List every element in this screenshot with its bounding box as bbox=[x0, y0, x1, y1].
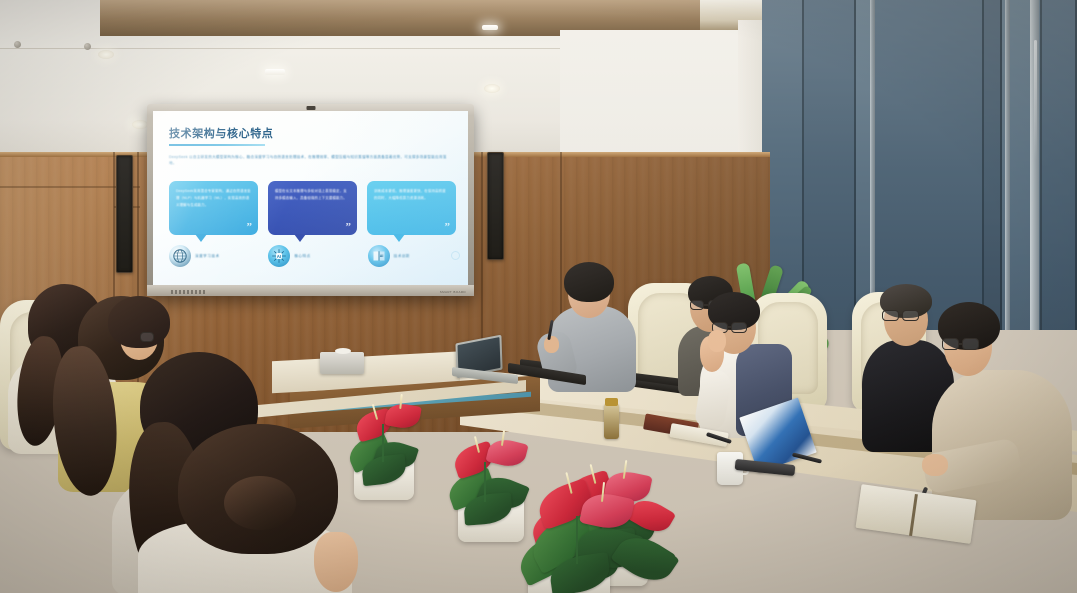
slide-icon-label: 深度学习技术 bbox=[195, 254, 220, 259]
smart-display[interactable]: 技术架构与核心特点 DeepSeek 以自主研发的大模型架构为核心，融合深度学习… bbox=[147, 104, 474, 296]
attendee-front-right bbox=[138, 424, 358, 593]
book-ai-icon: AI bbox=[368, 245, 390, 267]
window-glint bbox=[1034, 40, 1037, 160]
stem bbox=[382, 424, 384, 462]
attendee-gray-sweater bbox=[540, 258, 650, 388]
ceiling-downlight bbox=[484, 84, 500, 93]
attendee-beige-sweater bbox=[922, 296, 1077, 526]
glasses-icon bbox=[902, 310, 919, 321]
window-mullion bbox=[1005, 0, 1010, 330]
slide-icon-row: 深度学习技术 AI 核心特点 bbox=[169, 245, 461, 267]
slide-bubble-center: 模型在长文本推理与多轮对话上表现稳定，支持多模态输入，具备较强的上下文建模能力。… bbox=[268, 181, 357, 235]
stem bbox=[576, 516, 578, 564]
glasses-icon bbox=[962, 338, 979, 350]
ceiling-slot-light bbox=[265, 69, 285, 75]
presentation-slide: 技术架构与核心特点 DeepSeek 以自主研发的大模型架构为核心，融合深度学习… bbox=[153, 111, 468, 285]
display-camera-icon bbox=[306, 106, 315, 110]
sprinkler-head bbox=[14, 41, 21, 48]
globe-network-icon bbox=[169, 245, 191, 267]
hand-upper bbox=[708, 330, 726, 352]
quote-mark-icon: ” bbox=[346, 224, 352, 232]
display-bezel-bottom: SMART BOARD bbox=[147, 285, 474, 296]
anthurium-planter-front bbox=[520, 470, 740, 593]
hair bbox=[564, 262, 614, 302]
anthurium-bloom bbox=[485, 436, 528, 470]
wall-speaker-left bbox=[116, 155, 133, 273]
slide-icon-item: 深度学习技术 bbox=[169, 245, 262, 267]
glasses-icon bbox=[140, 332, 154, 342]
tissue-sheet bbox=[335, 348, 351, 354]
ceiling-downlight bbox=[98, 50, 114, 59]
svg-text:AI: AI bbox=[277, 254, 281, 259]
ceiling-downlight bbox=[132, 120, 148, 129]
bubble-text: DeepSeek采用混合专家架构，通过自然语言处理（NLP）与机器学习（ML），… bbox=[176, 188, 251, 208]
slide-bubble-right: 训练成本更低，推理速度更快，在保持高精度的同时，大幅降低算力资源消耗。 ” bbox=[367, 181, 456, 235]
bubble-text: 模型在长文本推理与多轮对话上表现稳定，支持多模态输入，具备较强的上下文建模能力。 bbox=[275, 188, 350, 202]
ceiling-slot-light bbox=[482, 25, 498, 30]
sprinkler-head bbox=[84, 43, 91, 50]
quote-mark-icon: ” bbox=[445, 224, 451, 232]
glasses-icon bbox=[942, 338, 959, 350]
quote-mark-icon: ” bbox=[247, 224, 253, 232]
slide-bubble-row: DeepSeek采用混合专家架构，通过自然语言处理（NLP）与机器学习（ML），… bbox=[169, 181, 457, 235]
display-brand-text: SMART BOARD bbox=[440, 290, 466, 294]
slide-icon-item: AI 核心特点 bbox=[268, 245, 361, 267]
svg-text:AI: AI bbox=[379, 254, 383, 258]
slide-body-text: DeepSeek 以自主研发的大模型架构为核心，融合深度学习与自然语言处理技术，… bbox=[169, 154, 452, 167]
slide-bubble-left: DeepSeek采用混合专家架构，通过自然语言处理（NLP）与机器学习（ML），… bbox=[169, 181, 258, 235]
window-mullion bbox=[870, 0, 875, 330]
slide-title: 技术架构与核心特点 bbox=[169, 125, 452, 141]
hair-bun-knot bbox=[224, 476, 296, 530]
hand-writing bbox=[922, 454, 948, 476]
slide-title-underline bbox=[169, 144, 265, 146]
glasses-icon bbox=[882, 310, 899, 321]
glasses-bridge bbox=[727, 326, 732, 328]
hand bbox=[544, 336, 559, 353]
blind-panel[interactable] bbox=[1042, 0, 1077, 330]
glasses-icon bbox=[731, 322, 747, 333]
blind-panel[interactable] bbox=[984, 0, 1002, 330]
slide-icon-item: AI 技术创新 bbox=[368, 245, 461, 267]
tissue-box[interactable] bbox=[320, 352, 364, 374]
conference-room-photo: 技术架构与核心特点 DeepSeek 以自主研发的大模型架构为核心，融合深度学习… bbox=[0, 0, 1077, 593]
stem bbox=[484, 462, 486, 502]
slide-icon-label: 技术创新 bbox=[394, 254, 410, 259]
wall-speaker-right bbox=[487, 152, 504, 260]
slide-icon-label: 核心特点 bbox=[294, 254, 310, 259]
blind-panel[interactable] bbox=[874, 0, 984, 330]
display-screen[interactable]: 技术架构与核心特点 DeepSeek 以自主研发的大模型架构为核心，融合深度学习… bbox=[153, 111, 468, 285]
hair bbox=[108, 296, 170, 348]
glasses-bridge bbox=[958, 343, 963, 345]
slide-decor-circle bbox=[451, 251, 460, 260]
ai-chip-icon: AI bbox=[268, 245, 290, 267]
glasses-bridge bbox=[898, 314, 903, 316]
bubble-text: 训练成本更低，推理速度更快，在保持高精度的同时，大幅降低算力资源消耗。 bbox=[374, 188, 449, 202]
